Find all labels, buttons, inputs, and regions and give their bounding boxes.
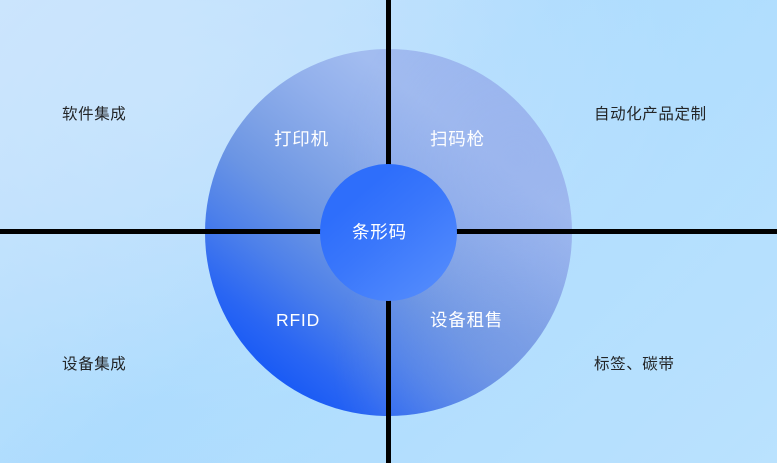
quadrant-label-software-integration[interactable]: 软件集成: [62, 107, 126, 123]
ring-label-equipment-rental[interactable]: 设备租售: [430, 312, 503, 330]
diagram-canvas: 打印机 扫码枪 RFID 设备租售 条形码 软件集成 自动化产品定制 设备集成 …: [0, 0, 777, 463]
quadrant-label-labels-ribbons[interactable]: 标签、碳带: [594, 357, 675, 373]
quadrant-label-automation-customization[interactable]: 自动化产品定制: [594, 107, 707, 123]
ring-label-printer[interactable]: 打印机: [274, 131, 329, 149]
quadrant-label-equipment-integration[interactable]: 设备集成: [62, 357, 126, 373]
ring-label-rfid[interactable]: RFID: [276, 312, 320, 330]
center-label-barcode[interactable]: 条形码: [352, 224, 407, 242]
ring-label-scanner[interactable]: 扫码枪: [430, 131, 485, 149]
